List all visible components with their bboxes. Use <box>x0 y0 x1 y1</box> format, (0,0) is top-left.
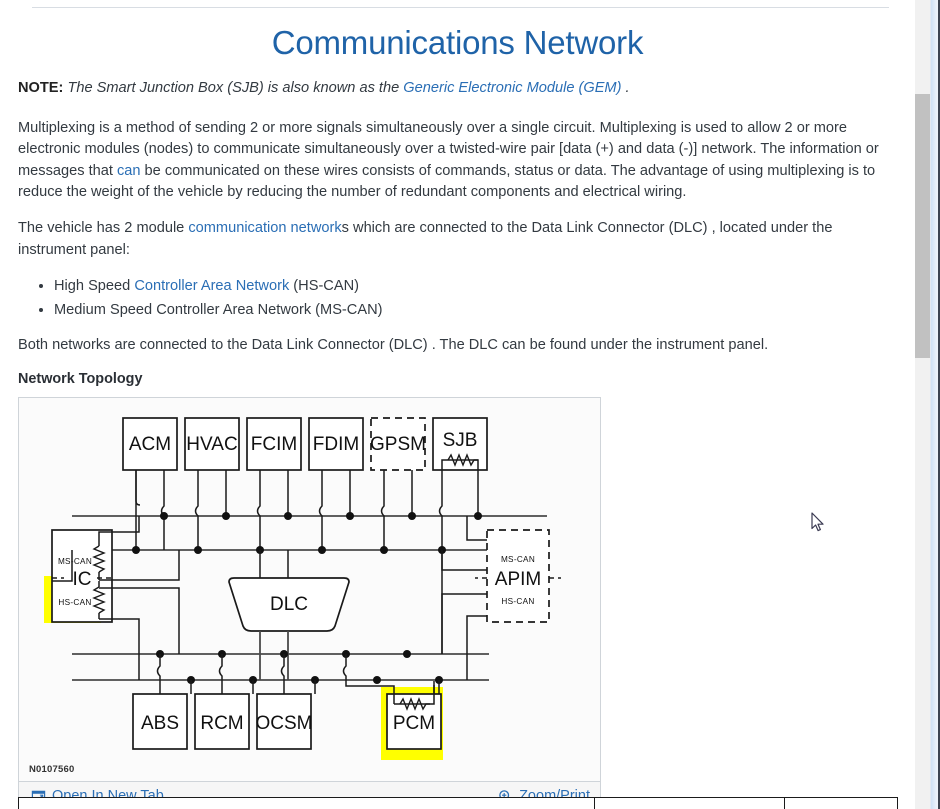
gem-link[interactable]: Generic Electronic Module (GEM) <box>403 80 621 96</box>
svg-text:HS-CAN: HS-CAN <box>58 598 91 607</box>
network-topology-heading: Network Topology <box>18 371 897 387</box>
svg-text:FDIM: FDIM <box>313 434 359 455</box>
list-item-suffix: (HS-CAN) <box>289 278 359 294</box>
table-cell <box>785 798 897 809</box>
networks-text-1: The vehicle has 2 module <box>18 220 188 236</box>
note-text-after: . <box>621 80 629 96</box>
svg-text:FCIM: FCIM <box>251 434 297 455</box>
bottom-table <box>18 797 898 809</box>
figure-id-label: N0107560 <box>29 764 74 775</box>
vertical-scrollbar-thumb[interactable] <box>915 94 930 358</box>
apim-label: APIM <box>495 569 541 590</box>
note-text-before: The Smart Junction Box (SJB) is also kno… <box>67 80 403 96</box>
network-list: High Speed Controller Area Network (HS-C… <box>18 275 897 321</box>
multiplexing-paragraph: Multiplexing is a method of sending 2 or… <box>18 118 897 204</box>
table-cell <box>595 798 785 809</box>
svg-text:MS-CAN: MS-CAN <box>501 555 535 564</box>
svg-text:HVAC: HVAC <box>186 434 237 455</box>
svg-text:OCSM: OCSM <box>256 713 313 734</box>
list-item: High Speed Controller Area Network (HS-C… <box>54 275 897 298</box>
communication-networks-link[interactable]: communication network <box>188 220 341 236</box>
figure-panel: .bx { fill:#ffffff; stroke:#1a1a1a; stro… <box>18 397 601 809</box>
svg-text:HS-CAN: HS-CAN <box>501 597 534 606</box>
list-item-prefix: Medium Speed Controller Area Network (MS… <box>54 302 382 318</box>
top-divider <box>32 7 889 8</box>
svg-text:RCM: RCM <box>200 713 243 734</box>
svg-text:ABS: ABS <box>141 713 179 734</box>
topology-svg: .bx { fill:#ffffff; stroke:#1a1a1a; stro… <box>19 398 600 781</box>
mouse-cursor <box>811 512 825 533</box>
browser-viewport: Communications Network NOTE: The Smart J… <box>0 0 940 809</box>
can-link[interactable]: can <box>117 163 141 179</box>
window-right-edge <box>930 0 940 809</box>
ic-label: IC <box>73 569 92 590</box>
svg-text:PCM: PCM <box>393 713 435 734</box>
document-content: Communications Network NOTE: The Smart J… <box>0 0 915 809</box>
controller-area-network-link[interactable]: Controller Area Network <box>134 278 289 294</box>
multiplex-text-2: be communicated on these wires consists … <box>18 163 875 201</box>
list-item: Medium Speed Controller Area Network (MS… <box>54 299 897 322</box>
note-label: NOTE: <box>18 80 63 96</box>
svg-text:MS-CAN: MS-CAN <box>58 557 92 566</box>
list-item-prefix: High Speed <box>54 278 134 294</box>
table-cell <box>19 798 595 809</box>
network-topology-diagram[interactable]: .bx { fill:#ffffff; stroke:#1a1a1a; stro… <box>19 398 600 781</box>
svg-text:ACM: ACM <box>129 434 171 455</box>
page-title: Communications Network <box>18 24 897 62</box>
svg-text:DLC: DLC <box>270 594 308 615</box>
note-paragraph: NOTE: The Smart Junction Box (SJB) is al… <box>18 78 897 100</box>
both-networks-paragraph: Both networks are connected to the Data … <box>18 335 897 357</box>
networks-paragraph: The vehicle has 2 module communication n… <box>18 218 897 261</box>
svg-text:GPSM: GPSM <box>370 434 426 455</box>
svg-text:SJB: SJB <box>443 430 478 451</box>
